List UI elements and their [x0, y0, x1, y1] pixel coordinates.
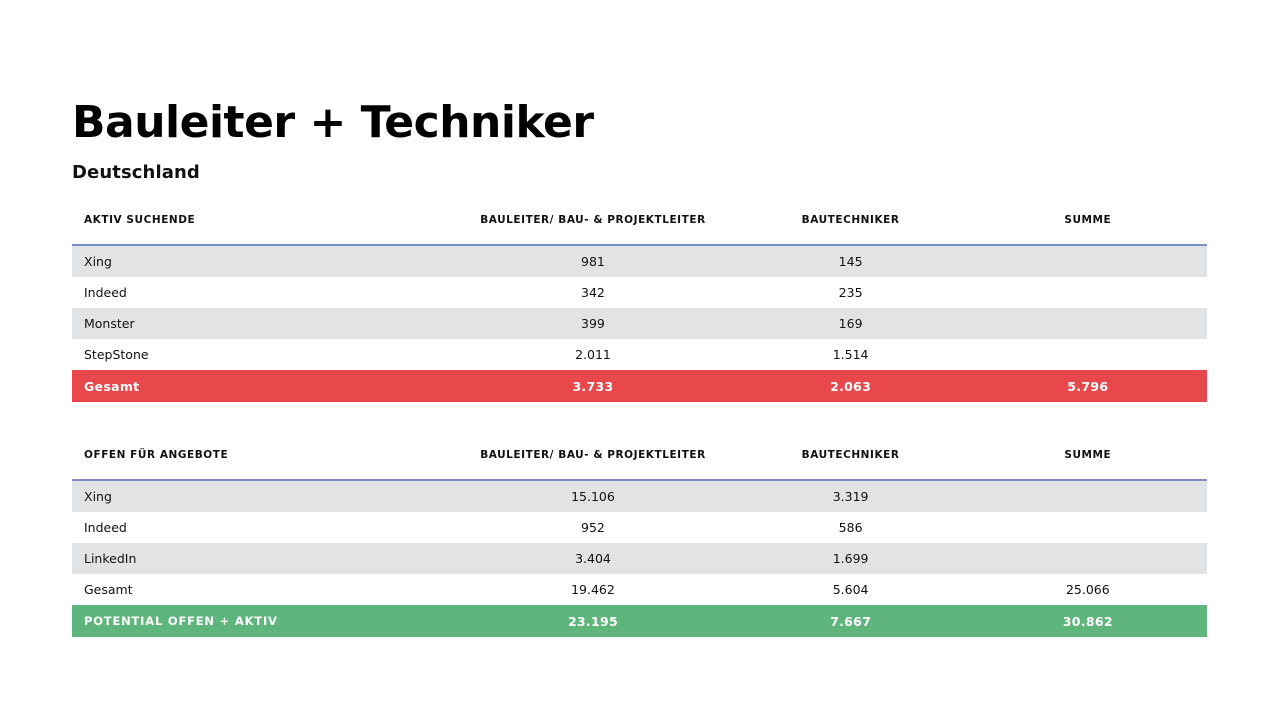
cell-total-bauleiter: 23.195 — [453, 605, 732, 637]
column-header-summe: SUMME — [969, 449, 1207, 480]
cell-label: Indeed — [72, 512, 453, 543]
column-header-bautechniker: BAUTECHNIKER — [733, 449, 969, 480]
table-header: OFFEN FÜR ANGEBOTE BAULEITER/ BAU- & PRO… — [72, 449, 1207, 480]
table-offen-fuer-angebote: OFFEN FÜR ANGEBOTE BAULEITER/ BAU- & PRO… — [72, 449, 1207, 637]
table-row: Xing 981 145 — [72, 245, 1207, 277]
cell-bautechniker: 145 — [733, 245, 969, 277]
cell-total-label: POTENTIAL OFFEN + AKTIV — [72, 605, 453, 637]
table-total-row-potential: POTENTIAL OFFEN + AKTIV 23.195 7.667 30.… — [72, 605, 1207, 637]
cell-bauleiter: 15.106 — [453, 480, 732, 512]
cell-total-summe: 5.796 — [969, 370, 1207, 402]
table-row: Monster 399 169 — [72, 308, 1207, 339]
cell-summe — [969, 339, 1207, 370]
cell-bautechniker: 3.319 — [733, 480, 969, 512]
cell-bauleiter: 2.011 — [453, 339, 732, 370]
table-total-row-aktiv: Gesamt 3.733 2.063 5.796 — [72, 370, 1207, 402]
data-table: OFFEN FÜR ANGEBOTE BAULEITER/ BAU- & PRO… — [72, 449, 1207, 637]
cell-label: Xing — [72, 245, 453, 277]
cell-label: StepStone — [72, 339, 453, 370]
column-header-label: OFFEN FÜR ANGEBOTE — [72, 449, 453, 480]
cell-summe — [969, 512, 1207, 543]
table-row: Indeed 342 235 — [72, 277, 1207, 308]
cell-bauleiter: 952 — [453, 512, 732, 543]
slide-canvas: Bauleiter + Techniker Deutschland AKTIV … — [0, 0, 1280, 720]
page-subtitle: Deutschland — [72, 162, 1212, 183]
column-header-bauleiter: BAULEITER/ BAU- & PROJEKTLEITER — [453, 214, 732, 245]
column-header-label: AKTIV SUCHENDE — [72, 214, 453, 245]
table-row: Gesamt 19.462 5.604 25.066 — [72, 574, 1207, 605]
cell-bauleiter: 19.462 — [453, 574, 732, 605]
cell-summe: 25.066 — [969, 574, 1207, 605]
cell-bautechniker: 586 — [733, 512, 969, 543]
table-row: StepStone 2.011 1.514 — [72, 339, 1207, 370]
column-header-bauleiter: BAULEITER/ BAU- & PROJEKTLEITER — [453, 449, 732, 480]
page-title: Bauleiter + Techniker — [72, 100, 1212, 146]
cell-bautechniker: 1.514 — [733, 339, 969, 370]
column-header-summe: SUMME — [969, 214, 1207, 245]
cell-bauleiter: 981 — [453, 245, 732, 277]
cell-total-label: Gesamt — [72, 370, 453, 402]
cell-bauleiter: 3.404 — [453, 543, 732, 574]
cell-summe — [969, 480, 1207, 512]
table-row: Indeed 952 586 — [72, 512, 1207, 543]
cell-summe — [969, 245, 1207, 277]
data-table: AKTIV SUCHENDE BAULEITER/ BAU- & PROJEKT… — [72, 214, 1207, 402]
cell-summe — [969, 543, 1207, 574]
table-aktiv-suchende: AKTIV SUCHENDE BAULEITER/ BAU- & PROJEKT… — [72, 214, 1207, 402]
cell-total-bautechniker: 2.063 — [733, 370, 969, 402]
table-header: AKTIV SUCHENDE BAULEITER/ BAU- & PROJEKT… — [72, 214, 1207, 245]
cell-bauleiter: 399 — [453, 308, 732, 339]
table-body: Xing 15.106 3.319 Indeed 952 586 LinkedI… — [72, 480, 1207, 637]
cell-summe — [969, 308, 1207, 339]
cell-summe — [969, 277, 1207, 308]
cell-total-bauleiter: 3.733 — [453, 370, 732, 402]
table-row: LinkedIn 3.404 1.699 — [72, 543, 1207, 574]
cell-label: Indeed — [72, 277, 453, 308]
cell-label: Monster — [72, 308, 453, 339]
cell-bautechniker: 1.699 — [733, 543, 969, 574]
table-row: Xing 15.106 3.319 — [72, 480, 1207, 512]
cell-bautechniker: 235 — [733, 277, 969, 308]
cell-label: LinkedIn — [72, 543, 453, 574]
cell-total-summe: 30.862 — [969, 605, 1207, 637]
table-body: Xing 981 145 Indeed 342 235 Monster 399 … — [72, 245, 1207, 402]
cell-bautechniker: 169 — [733, 308, 969, 339]
cell-label: Gesamt — [72, 574, 453, 605]
cell-total-bautechniker: 7.667 — [733, 605, 969, 637]
cell-bautechniker: 5.604 — [733, 574, 969, 605]
cell-bauleiter: 342 — [453, 277, 732, 308]
cell-label: Xing — [72, 480, 453, 512]
heading-block: Bauleiter + Techniker Deutschland — [72, 100, 1212, 183]
column-header-bautechniker: BAUTECHNIKER — [733, 214, 969, 245]
